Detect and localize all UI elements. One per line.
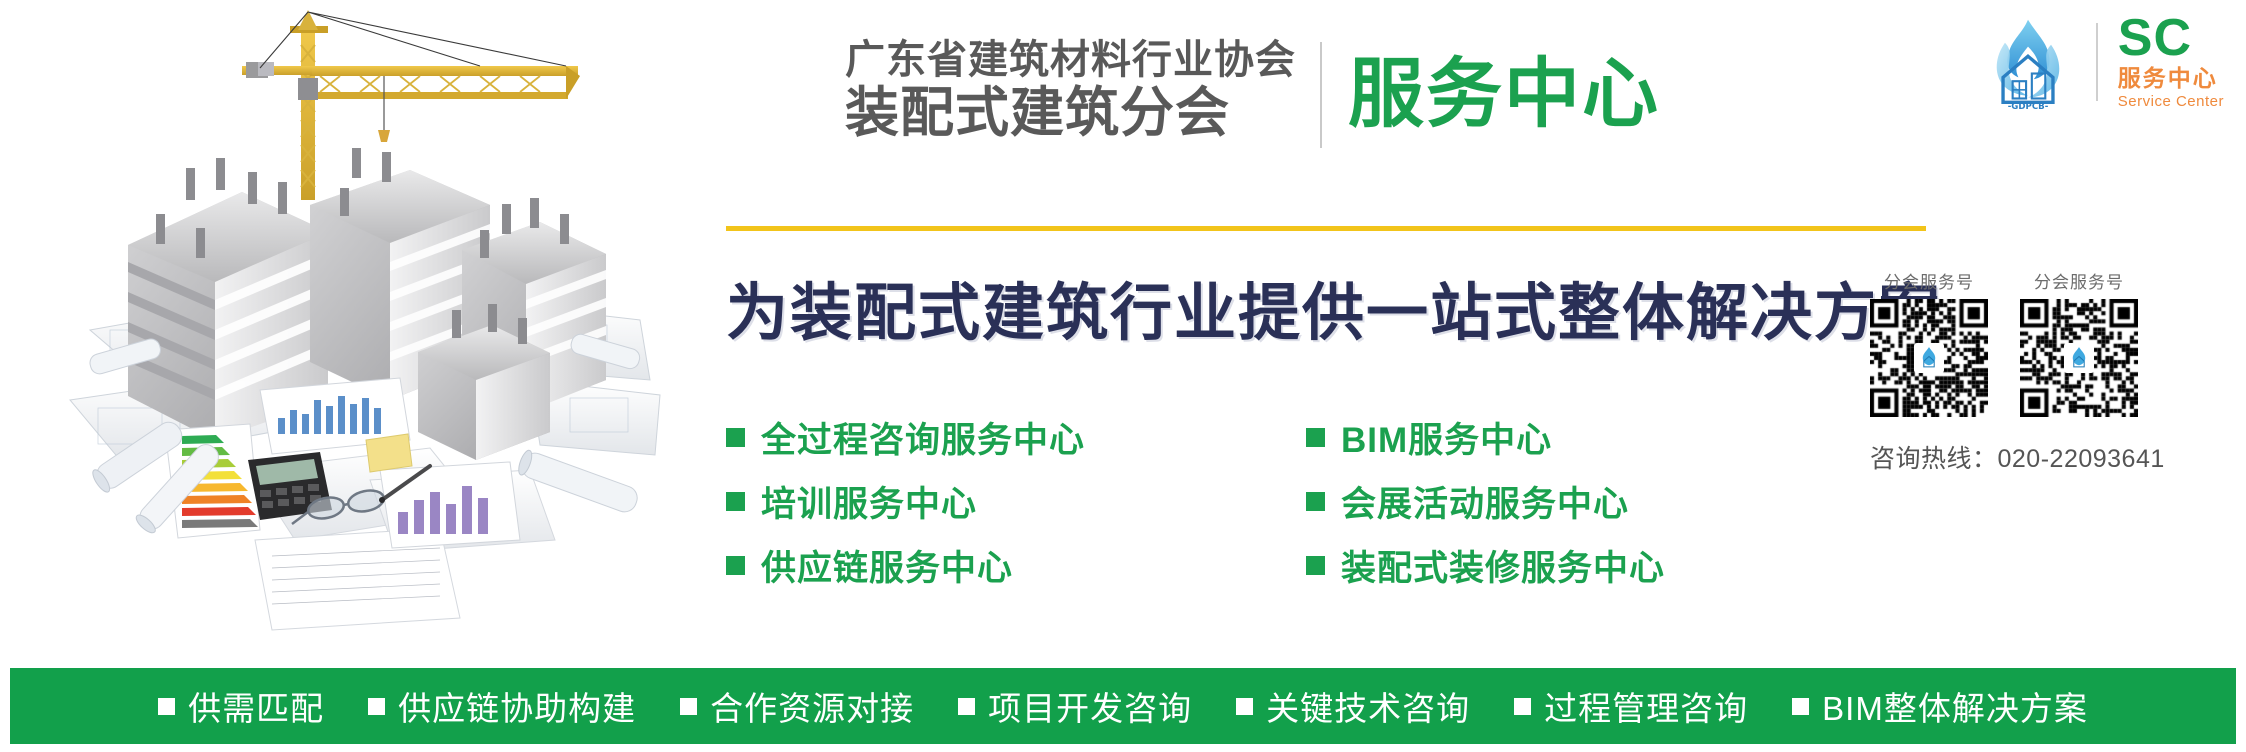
service-item[interactable]: 供应链服务中心	[726, 533, 1306, 597]
bar-item-label: 过程管理咨询	[1544, 682, 1748, 730]
bottom-capability-bar: 供需匹配 供应链协助构建 合作资源对接 项目开发咨询 关键技术咨询 过程管理咨询…	[10, 668, 2236, 744]
square-bullet-icon	[1306, 492, 1325, 511]
square-bullet-icon	[1514, 698, 1531, 715]
bar-item-label: 项目开发咨询	[988, 682, 1192, 730]
association-names: 广东省建筑材料行业协会 装配式建筑分会	[845, 38, 1320, 143]
yellow-divider-rule	[726, 226, 1926, 231]
qr-item[interactable]: 分会服务号	[2020, 268, 2138, 417]
bar-item[interactable]: 供应链协助构建	[368, 682, 636, 730]
qr-caption: 分会服务号	[2034, 268, 2124, 293]
qr-row: 分会服务号 分会服务号	[1870, 268, 2220, 417]
main-headline: 为装配式建筑行业提供一站式整体解决方案	[726, 262, 1942, 352]
bar-item-label: 关键技术咨询	[1266, 682, 1470, 730]
construction-scene-graphic	[10, 0, 670, 650]
service-item[interactable]: 会展活动服务中心	[1306, 469, 1776, 533]
service-column-right: BIM服务中心 会展活动服务中心 装配式装修服务中心	[1306, 405, 1776, 597]
square-bullet-icon	[368, 698, 385, 715]
construction-illustration	[10, 0, 670, 650]
service-item[interactable]: 装配式装修服务中心	[1306, 533, 1776, 597]
qr-caption: 分会服务号	[1884, 268, 1974, 293]
logo-wordmark: SC 服务中心 Service Center	[2118, 14, 2224, 111]
bar-item[interactable]: 合作资源对接	[680, 682, 914, 730]
logo-divider	[2096, 23, 2098, 101]
bar-item-label: 供应链协助构建	[398, 682, 636, 730]
logo-name-cn: 服务中心	[2118, 64, 2218, 93]
qr-code-image[interactable]	[1870, 299, 1988, 417]
association-name-line1: 广东省建筑材料行业协会	[845, 38, 1296, 83]
square-bullet-icon	[958, 698, 975, 715]
brand-logo[interactable]: -GDPCB- SC 服务中心 Service Center	[1980, 14, 2224, 111]
bar-item[interactable]: 过程管理咨询	[1514, 682, 1748, 730]
service-item-label: 全过程咨询服务中心	[761, 412, 1085, 463]
square-bullet-icon	[1306, 556, 1325, 575]
logo-mark-caption: -GDPCB-	[2007, 102, 2048, 110]
qr-center-logo	[1914, 343, 1944, 373]
square-bullet-icon	[1792, 698, 1809, 715]
bar-item[interactable]: 关键技术咨询	[1236, 682, 1470, 730]
purple-chart-paper	[380, 462, 520, 548]
logo-abbreviation: SC	[2118, 14, 2192, 64]
square-bullet-icon	[726, 556, 745, 575]
banner-root: 广东省建筑材料行业协会 装配式建筑分会 服务中心 为装配式建筑行业提供一站式整体…	[0, 0, 2246, 752]
qr-code-image[interactable]	[2020, 299, 2138, 417]
hotline-text: 咨询热线：020-22093641	[1870, 439, 2220, 475]
qr-flame-icon	[2066, 345, 2092, 371]
service-item-label: 会展活动服务中心	[1341, 476, 1629, 527]
square-bullet-icon	[680, 698, 697, 715]
square-bullet-icon	[726, 492, 745, 511]
service-center-list: 全过程咨询服务中心 培训服务中心 供应链服务中心 BIM服务中心 会展活动服务中…	[726, 405, 1776, 597]
bar-item[interactable]: 项目开发咨询	[958, 682, 1192, 730]
square-bullet-icon	[158, 698, 175, 715]
qr-flame-icon	[1916, 345, 1942, 371]
title-block: 广东省建筑材料行业协会 装配式建筑分会 服务中心	[845, 38, 1660, 148]
qr-center-logo	[2064, 343, 2094, 373]
title-vertical-divider	[1320, 42, 1322, 148]
service-item-label: 培训服务中心	[761, 476, 977, 527]
logo-name-en: Service Center	[2118, 93, 2224, 111]
bar-item-label: 合作资源对接	[710, 682, 914, 730]
service-item[interactable]: BIM服务中心	[1306, 405, 1776, 469]
service-item-label: 供应链服务中心	[761, 540, 1013, 591]
bar-item-label: BIM整体解决方案	[1822, 682, 2088, 730]
qr-contact-area: 分会服务号 分会服务号	[1870, 268, 2220, 475]
bar-item[interactable]: 供需匹配	[158, 682, 324, 730]
bar-item-label: 供需匹配	[188, 682, 324, 730]
service-item-label: BIM服务中心	[1341, 412, 1552, 463]
qr-item[interactable]: 分会服务号	[1870, 268, 1988, 417]
square-bullet-icon	[1306, 428, 1325, 447]
sticky-note	[366, 434, 412, 472]
service-item-label: 装配式装修服务中心	[1341, 540, 1665, 591]
service-item[interactable]: 培训服务中心	[726, 469, 1306, 533]
service-item[interactable]: 全过程咨询服务中心	[726, 405, 1306, 469]
service-center-title: 服务中心	[1348, 52, 1660, 137]
square-bullet-icon	[1236, 698, 1253, 715]
association-name-line2: 装配式建筑分会	[845, 83, 1296, 143]
bar-item[interactable]: BIM整体解决方案	[1792, 682, 2088, 730]
gdpcb-flame-house-icon: -GDPCB-	[1980, 14, 2076, 110]
square-bullet-icon	[726, 428, 745, 447]
service-column-left: 全过程咨询服务中心 培训服务中心 供应链服务中心	[726, 405, 1306, 597]
